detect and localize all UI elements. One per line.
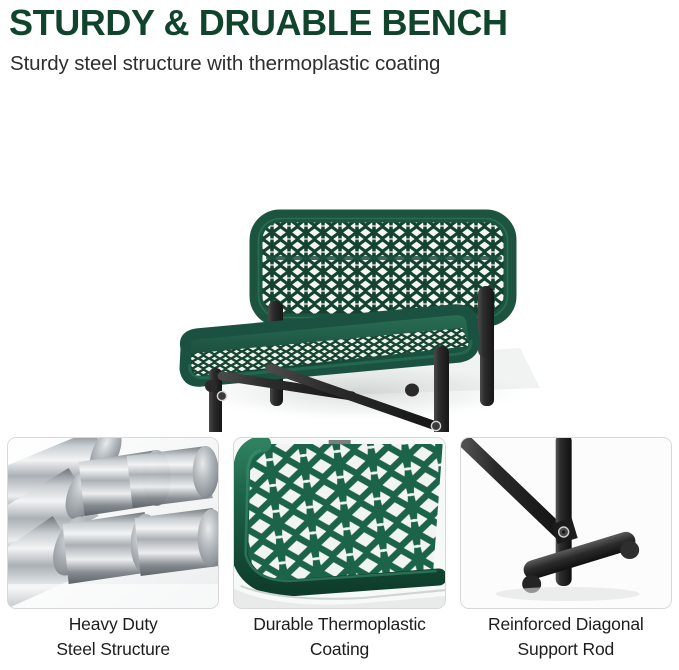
- hero-bench-image: [0, 96, 679, 432]
- page-title: STURDY & DRUABLE BENCH: [0, 0, 679, 44]
- caption-support-rod: Reinforced Diagonal Support Rod: [460, 612, 672, 670]
- steel-bar: [127, 446, 219, 508]
- bolt-icon: [217, 391, 226, 400]
- caption-line-2: Steel Structure: [7, 637, 219, 662]
- feature-cards: [0, 437, 679, 609]
- caption-line-1: Heavy Duty: [7, 612, 219, 637]
- bolt-icon: [431, 421, 440, 430]
- page-subtitle: Sturdy steel structure with thermoplasti…: [0, 44, 679, 77]
- caption-line-2: Coating: [233, 637, 445, 662]
- caption-line-1: Durable Thermoplastic: [233, 612, 445, 637]
- bench-backrest: [256, 216, 510, 320]
- steel-bar: [135, 508, 219, 576]
- caption-thermoplastic-coating: Durable Thermoplastic Coating: [233, 612, 445, 670]
- header: STURDY & DRUABLE BENCH Sturdy steel stru…: [0, 0, 679, 77]
- expanded-metal-mesh: [234, 438, 444, 590]
- feature-card-thermoplastic-coating[interactable]: [233, 437, 445, 609]
- bench-illustration: [0, 96, 679, 432]
- caption-line-2: Support Rod: [460, 637, 672, 662]
- feature-card-steel-structure[interactable]: [7, 437, 219, 609]
- caption-line-1: Reinforced Diagonal: [460, 612, 672, 637]
- green-mesh-corner-image: [234, 438, 444, 608]
- feature-card-support-rod[interactable]: [460, 437, 672, 609]
- diagonal-support-rod-image: [461, 438, 671, 608]
- steel-bars-image: [8, 438, 218, 608]
- caption-steel-structure: Heavy Duty Steel Structure: [7, 612, 219, 670]
- feature-captions: Heavy Duty Steel Structure Durable Therm…: [0, 612, 679, 670]
